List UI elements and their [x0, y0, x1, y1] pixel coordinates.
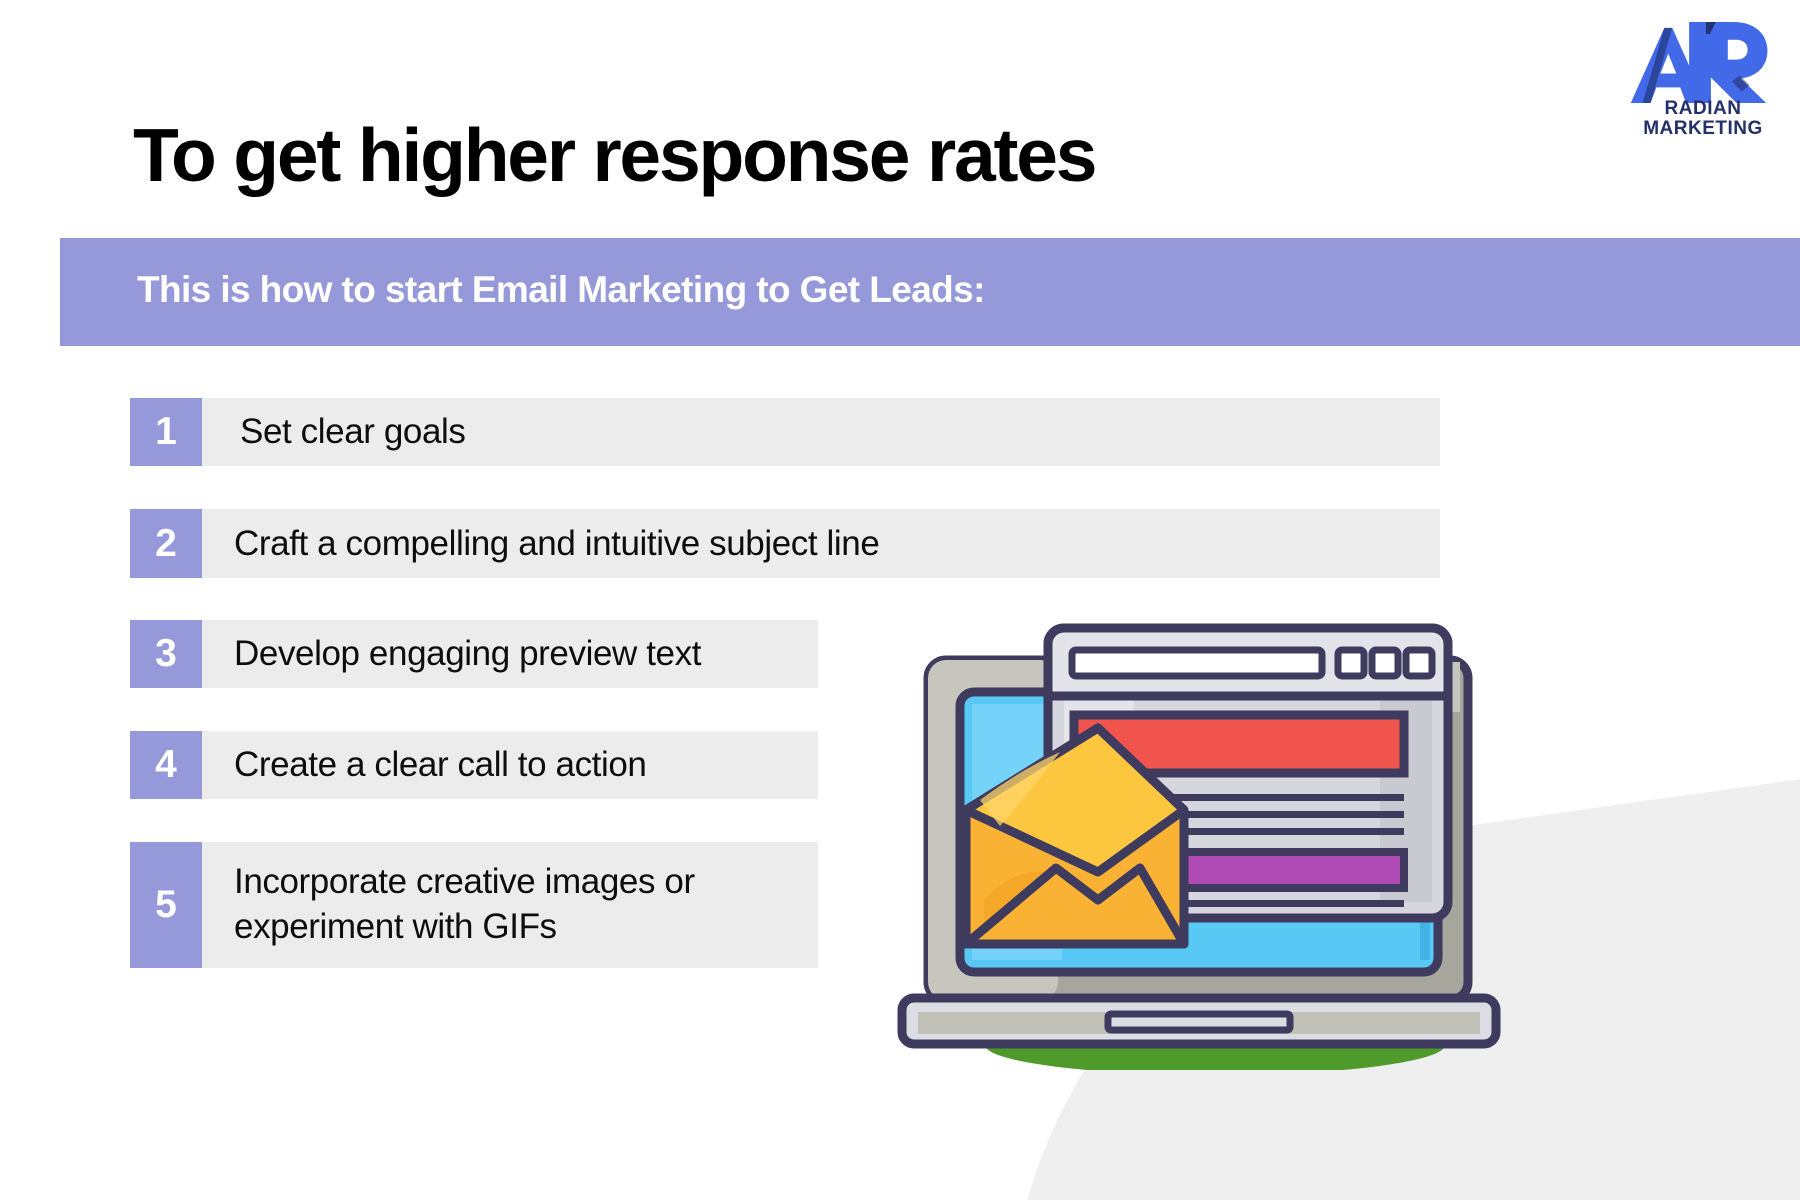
- brand-logo: RADIAN MARKETING: [1618, 18, 1788, 138]
- brand-logo-text: RADIAN MARKETING: [1643, 99, 1763, 138]
- step-label: Incorporate creative images or experimen…: [202, 842, 818, 968]
- window-maximize-icon: [1372, 650, 1398, 676]
- step-number-badge: 2: [130, 509, 202, 578]
- radian-ar-monogram-icon: [1628, 18, 1778, 103]
- list-item: 4 Create a clear call to action: [130, 731, 818, 799]
- window-close-icon: [1406, 650, 1432, 676]
- step-label-line1: Incorporate creative images or: [234, 860, 695, 905]
- step-number-badge: 3: [130, 620, 202, 688]
- list-item: 1 Set clear goals: [130, 398, 1440, 466]
- brand-name-line2: MARKETING: [1643, 119, 1763, 138]
- infographic-canvas: RADIAN MARKETING To get higher response …: [0, 0, 1800, 1200]
- step-label-line2: experiment with GIFs: [234, 905, 557, 950]
- step-number-badge: 5: [130, 842, 202, 968]
- list-item: 3 Develop engaging preview text: [130, 620, 818, 688]
- laptop-email-illustration: [880, 600, 1520, 1070]
- step-label: Create a clear call to action: [202, 731, 818, 799]
- laptop-email-illustration-svg: [880, 600, 1520, 1070]
- step-number-badge: 4: [130, 731, 202, 799]
- browser-address-bar: [1072, 650, 1322, 676]
- step-label: Develop engaging preview text: [202, 620, 818, 688]
- step-label: Craft a compelling and intuitive subject…: [202, 509, 1440, 578]
- window-minimize-icon: [1338, 650, 1364, 676]
- step-label: Set clear goals: [202, 398, 1440, 466]
- list-item: 2 Craft a compelling and intuitive subje…: [130, 509, 1440, 578]
- step-number-badge: 1: [130, 398, 202, 466]
- list-item: 5 Incorporate creative images or experim…: [130, 842, 818, 968]
- brand-name-line1: RADIAN: [1643, 99, 1763, 118]
